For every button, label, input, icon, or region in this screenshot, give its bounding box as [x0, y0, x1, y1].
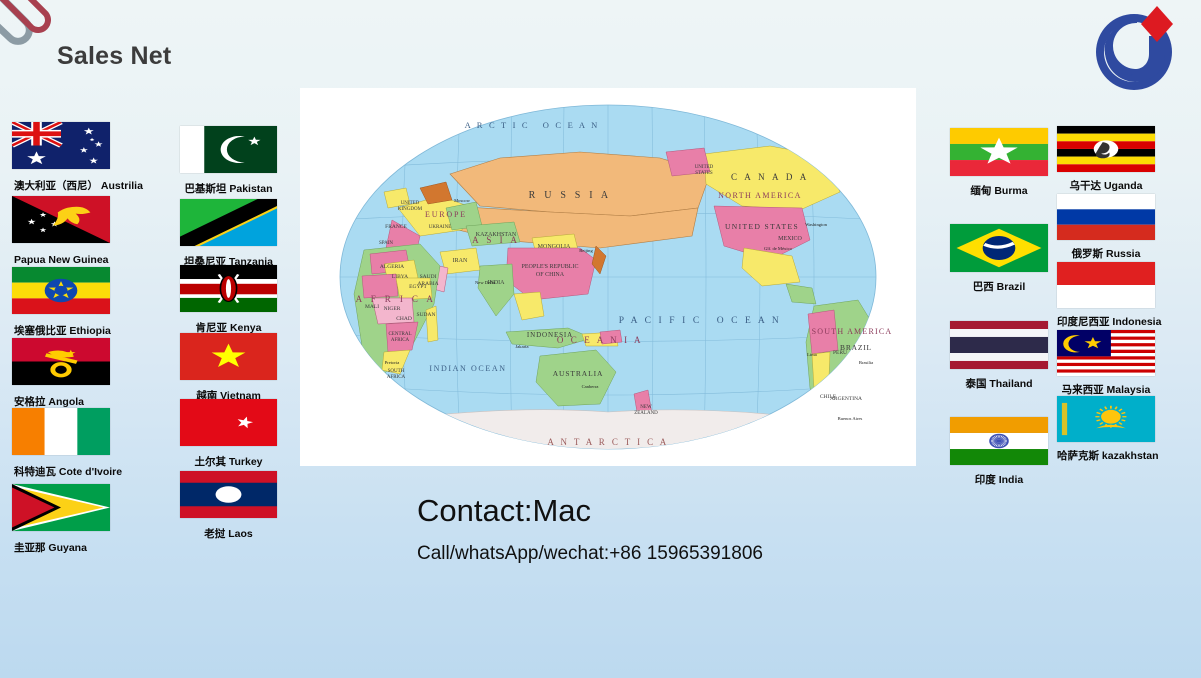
- flag-label-my: 马来西亚 Malaysia: [1057, 384, 1155, 396]
- flag-label-cn-br: 巴西: [973, 281, 994, 293]
- svg-text:Pretoria: Pretoria: [385, 360, 400, 365]
- contact-block: Contact:Mac Call/whatsApp/wechat:+86 159…: [417, 492, 763, 565]
- svg-text:C A N A D A: C A N A D A: [731, 172, 809, 182]
- svg-text:CENTRAL: CENTRAL: [388, 332, 411, 337]
- flag-label-en-mm: Burma: [991, 185, 1027, 197]
- flag-label-br: 巴西 Brazil: [950, 281, 1048, 293]
- flag-image-pk: [180, 126, 277, 173]
- svg-text:STATES: STATES: [695, 171, 713, 176]
- flag-label-ug: 乌干达 Uganda: [1057, 180, 1155, 192]
- flag-label-et: 埃塞俄比亚 Ethiopia: [12, 325, 110, 337]
- flag-item-tz: 坦桑尼亚 Tanzania: [180, 199, 277, 268]
- flag-label-en-ao: Angola: [46, 396, 85, 408]
- svg-text:KINGDOM: KINGDOM: [398, 207, 423, 212]
- svg-text:ALGERIA: ALGERIA: [380, 264, 404, 270]
- flag-label-cn-id: 印度尼西亚: [1057, 316, 1110, 328]
- svg-text:CHAD: CHAD: [396, 316, 412, 322]
- world-map-panel: A R C T I C O C E A N P A C I F I C O C …: [300, 88, 916, 466]
- flag-label-en-in: India: [996, 474, 1023, 486]
- flag-item-ci: 科特迪瓦 Cote d'Ivoire: [12, 408, 110, 478]
- svg-text:NORTH AMERICA: NORTH AMERICA: [718, 191, 802, 200]
- flag-image-la: [180, 471, 277, 518]
- flag-image-tz: [180, 199, 277, 246]
- flag-label-tr: 土尔其 Turkey: [180, 456, 277, 468]
- svg-text:SOUTH AMERICA: SOUTH AMERICA: [812, 327, 893, 336]
- flag-label-pg: Papua New Guinea: [12, 254, 110, 266]
- svg-text:AFRICA: AFRICA: [391, 338, 410, 343]
- flag-label-en-id: Indonesia: [1110, 316, 1162, 328]
- flag-image-ug: [1057, 126, 1155, 172]
- flag-image-ke: [180, 265, 277, 312]
- flag-image-id: [1057, 262, 1155, 308]
- flag-image-my: [1057, 330, 1155, 376]
- svg-text:SUDAN: SUDAN: [417, 312, 436, 318]
- flag-label-en-au: Austrilia: [98, 180, 143, 192]
- flag-label-en-kz: kazakhstan: [1099, 450, 1159, 462]
- flag-image-pg: [12, 196, 110, 243]
- flag-label-ru: 俄罗斯 Russia: [1057, 248, 1155, 260]
- flag-item-th: 泰国 Thailand: [950, 321, 1048, 390]
- flag-item-vn: 越南 Vietnam: [180, 333, 277, 402]
- svg-text:Jakarta: Jakarta: [515, 344, 528, 349]
- svg-text:INDONESIA: INDONESIA: [527, 331, 573, 339]
- flag-label-ao: 安格拉 Angola: [12, 396, 110, 408]
- flag-label-cn-gy: 圭亚那: [14, 542, 46, 554]
- flag-image-br: [950, 224, 1048, 272]
- flag-label-mm: 缅甸 Burma: [950, 185, 1048, 197]
- flag-label-cn-ru: 俄罗斯: [1072, 248, 1104, 260]
- flag-label-cn-kz: 哈萨克斯: [1057, 450, 1099, 462]
- page-title: Sales Net: [57, 42, 171, 71]
- flag-image-kz: [1057, 396, 1155, 442]
- flag-label-en-ci: Cote d'Ivoire: [56, 466, 122, 478]
- svg-text:ARGENTINA: ARGENTINA: [830, 396, 862, 402]
- flag-image-tr: [180, 399, 277, 446]
- flag-item-la: 老挝 Laos: [180, 471, 277, 540]
- svg-text:PEOPLE'S REPUBLIC: PEOPLE'S REPUBLIC: [522, 264, 579, 270]
- svg-text:Washington: Washington: [805, 222, 828, 227]
- svg-text:R U S S I A: R U S S I A: [529, 190, 612, 201]
- contact-channels: Call/whatsApp/wechat:+86 15965391806: [417, 543, 763, 565]
- flag-item-kz: 哈萨克斯 kazakhstan: [1057, 396, 1155, 462]
- svg-text:SOUTH: SOUTH: [388, 369, 405, 374]
- flag-label-ci: 科特迪瓦 Cote d'Ivoire: [12, 466, 110, 478]
- world-political-map: A R C T I C O C E A N P A C I F I C O C …: [300, 88, 916, 466]
- flag-image-th: [950, 321, 1048, 369]
- flag-label-th: 泰国 Thailand: [950, 378, 1048, 390]
- svg-text:UKRAINE: UKRAINE: [429, 225, 452, 230]
- flag-label-en-la: Laos: [225, 528, 252, 540]
- svg-text:Beijing: Beijing: [579, 248, 593, 253]
- flag-item-et: 埃塞俄比亚 Ethiopia: [12, 267, 110, 337]
- flag-label-cn-in: 印度: [975, 474, 996, 486]
- flag-label-cn-ao: 安格拉: [14, 396, 46, 408]
- flag-item-ao: 安格拉 Angola: [12, 338, 110, 408]
- flag-image-ru: [1057, 194, 1155, 240]
- flag-label-pk: 巴基斯坦 Pakistan: [180, 183, 277, 195]
- flag-label-en-tr: Turkey: [226, 456, 263, 468]
- flag-image-ci: [12, 408, 110, 455]
- flag-label-cn-au: 澳大利亚（西尼）: [14, 180, 98, 192]
- svg-text:P A C I F I C O C E A N: P A C I F I C O C E A N: [619, 316, 782, 326]
- flag-label-en-ug: Uganda: [1101, 180, 1142, 192]
- svg-text:ZEALAND: ZEALAND: [634, 411, 658, 416]
- flag-label-la: 老挝 Laos: [180, 528, 277, 540]
- flag-label-cn-my: 马来西亚: [1062, 384, 1104, 396]
- flag-label-cn-pk: 巴基斯坦: [184, 183, 226, 195]
- flag-image-gy: [12, 484, 110, 531]
- flag-image-mm: [950, 128, 1048, 176]
- svg-text:SAUDI: SAUDI: [420, 274, 437, 280]
- flag-item-pk: 巴基斯坦 Pakistan: [180, 126, 277, 195]
- svg-text:UNITED: UNITED: [401, 201, 420, 206]
- flag-label-cn-tr: 土尔其: [194, 456, 226, 468]
- flag-label-en-ru: Russia: [1103, 248, 1140, 260]
- svg-text:UNITED: UNITED: [695, 165, 714, 170]
- svg-text:A F R I C A: A F R I C A: [356, 294, 437, 304]
- svg-text:Lima: Lima: [807, 352, 817, 357]
- flag-label-en-gy: Guyana: [46, 542, 87, 554]
- svg-text:Brasilia: Brasilia: [859, 360, 873, 365]
- flag-image-vn: [180, 333, 277, 380]
- flag-image-ao: [12, 338, 110, 385]
- svg-text:OF CHINA: OF CHINA: [536, 272, 565, 278]
- flag-label-cn-mm: 缅甸: [970, 185, 991, 197]
- flag-label-cn-et: 埃塞俄比亚: [14, 325, 67, 337]
- flag-image-in: [950, 417, 1048, 465]
- svg-text:KAZAKHSTAN: KAZAKHSTAN: [476, 232, 517, 238]
- svg-text:INDIAN OCEAN: INDIAN OCEAN: [429, 364, 506, 373]
- svg-text:LIBYA: LIBYA: [392, 274, 408, 280]
- flag-label-gy: 圭亚那 Guyana: [12, 542, 110, 554]
- svg-text:FRANCE: FRANCE: [385, 224, 407, 230]
- svg-text:SPAIN: SPAIN: [379, 241, 393, 246]
- flag-item-id: 印度尼西亚 Indonesia: [1057, 262, 1155, 328]
- flag-label-kz: 哈萨克斯 kazakhstan: [1057, 450, 1155, 462]
- svg-text:AUSTRALIA: AUSTRALIA: [553, 369, 604, 378]
- flag-item-au: 澳大利亚（西尼） Austrilia: [12, 122, 110, 192]
- flag-label-cn-ug: 乌干达: [1070, 180, 1102, 192]
- flag-label-au: 澳大利亚（西尼） Austrilia: [12, 180, 110, 192]
- svg-text:PERU: PERU: [833, 350, 847, 356]
- svg-text:AFRICA: AFRICA: [387, 375, 406, 380]
- flag-label-id: 印度尼西亚 Indonesia: [1057, 316, 1155, 328]
- svg-text:A N T A R C T I C A: A N T A R C T I C A: [547, 437, 668, 447]
- flag-item-tr: 土尔其 Turkey: [180, 399, 277, 468]
- flag-item-in: 印度 India: [950, 417, 1048, 486]
- flag-item-br: 巴西 Brazil: [950, 224, 1048, 293]
- flag-item-ke: 肯尼亚 Kenya: [180, 265, 277, 334]
- flag-item-pg: Papua New Guinea: [12, 196, 110, 266]
- svg-text:EUROPE: EUROPE: [425, 210, 467, 219]
- svg-text:Glf. de México: Glf. de México: [764, 246, 793, 251]
- flag-label-en-pk: Pakistan: [226, 183, 272, 195]
- svg-text:Moscow: Moscow: [454, 198, 471, 203]
- flag-label-en-br: Brazil: [994, 281, 1026, 293]
- svg-text:EGYPT: EGYPT: [409, 284, 427, 290]
- flag-item-gy: 圭亚那 Guyana: [12, 484, 110, 554]
- svg-text:MONGOLIA: MONGOLIA: [538, 244, 571, 250]
- svg-text:UNITED STATES: UNITED STATES: [725, 222, 799, 231]
- svg-text:MEXICO: MEXICO: [778, 236, 802, 242]
- flag-item-mm: 缅甸 Burma: [950, 128, 1048, 197]
- svg-text:Canberra: Canberra: [582, 384, 599, 389]
- svg-text:Buenos Aires: Buenos Aires: [838, 416, 863, 421]
- flag-label-in: 印度 India: [950, 474, 1048, 486]
- flag-label-cn-la: 老挝: [204, 528, 225, 540]
- flag-label-cn-th: 泰国: [965, 378, 986, 390]
- flag-label-en-th: Thailand: [986, 378, 1032, 390]
- svg-text:A R C T I C O C E A N: A R C T I C O C E A N: [465, 120, 600, 130]
- svg-text:IRAN: IRAN: [453, 258, 468, 264]
- slide-canvas: Sales Net: [0, 0, 1201, 678]
- flag-image-au: [12, 122, 110, 169]
- svg-text:NEW: NEW: [640, 405, 652, 410]
- svg-text:NIGER: NIGER: [384, 306, 401, 312]
- flag-item-ru: 俄罗斯 Russia: [1057, 194, 1155, 260]
- flag-label-en-my: Malaysia: [1104, 384, 1151, 396]
- svg-text:MALI: MALI: [365, 304, 379, 310]
- flag-item-my: 马来西亚 Malaysia: [1057, 330, 1155, 396]
- flag-label-en-pg: Papua New Guinea: [14, 254, 109, 266]
- contact-name: Contact:Mac: [417, 492, 763, 531]
- flag-image-et: [12, 267, 110, 314]
- flag-item-ug: 乌干达 Uganda: [1057, 126, 1155, 192]
- company-logo: [1075, 0, 1193, 108]
- svg-text:New Delhi: New Delhi: [475, 280, 496, 285]
- flag-label-en-et: Ethiopia: [67, 325, 111, 337]
- flag-label-cn-ci: 科特迪瓦: [14, 466, 56, 478]
